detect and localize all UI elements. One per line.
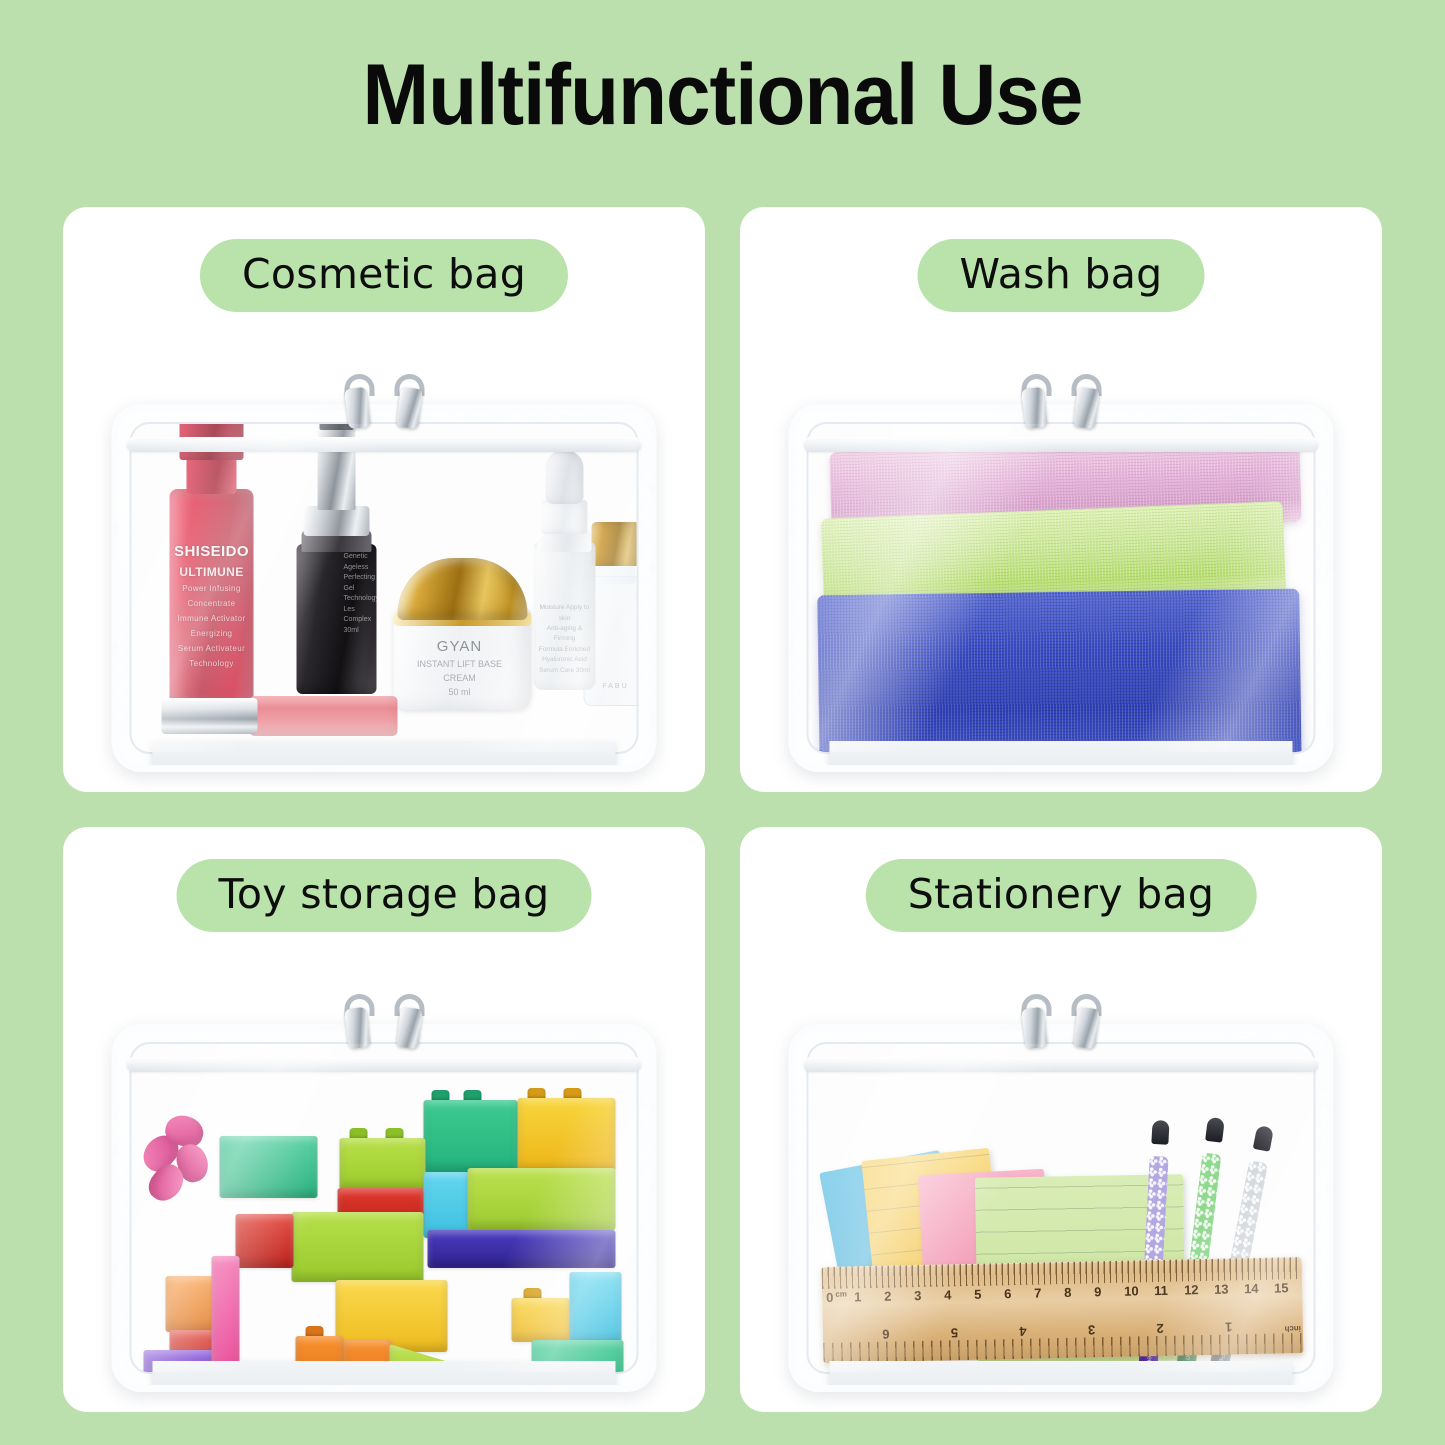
zipper-pull-group xyxy=(324,994,444,1046)
zipper-pull-group xyxy=(1001,994,1121,1046)
red-serum-desc-6: Technology xyxy=(189,659,233,669)
red-serum-desc-5: Serum Activateur xyxy=(178,644,245,654)
block-green xyxy=(424,1100,518,1172)
pouch-interior: FABU Moisture Apply to skin Anti-aging &… xyxy=(130,422,639,754)
ruler-cm-13: 13 xyxy=(1212,1281,1242,1297)
page-title: Multifunctional Use xyxy=(51,52,1395,138)
ruler-inch-unit: inch xyxy=(1234,1318,1303,1334)
zipper-pull-left-icon xyxy=(344,387,371,429)
stationery-contents: Crystal Stylus Pen Crystal Stylus Pen xyxy=(809,1044,1314,1372)
ruler-inch-2: 2 xyxy=(1097,1321,1166,1337)
dropper-text-3: Formula Enriched xyxy=(538,645,592,655)
block-yellow xyxy=(518,1098,616,1172)
block-lime xyxy=(468,1168,616,1230)
block-orange xyxy=(166,1276,218,1332)
stationery-bag-image: Crystal Stylus Pen Crystal Stylus Pen xyxy=(789,994,1334,1394)
cream-jar-line-3: 50 ml xyxy=(400,686,520,700)
dropper-text-5: Serum Care 30ml xyxy=(538,666,592,676)
towel-blue xyxy=(817,589,1302,754)
red-serum-desc-1: Power Infusing xyxy=(182,584,241,594)
red-serum-line: ULTIMUNE xyxy=(179,565,243,579)
ruler-cm-11: 11 xyxy=(1152,1282,1182,1298)
red-serum-desc-3: Immune Activator xyxy=(177,614,245,624)
transparent-pouch xyxy=(789,404,1334,772)
dark-serum-text-5: Technology xyxy=(344,594,378,605)
pouch-base xyxy=(153,1361,616,1392)
block-yellow xyxy=(512,1298,570,1342)
block-red xyxy=(236,1214,294,1268)
panel-cosmetic-bag[interactable]: Cosmetic bag FABU xyxy=(63,207,705,792)
zipper-pull-right-icon xyxy=(396,1007,423,1049)
pink-lip-gloss-cap xyxy=(162,698,258,734)
dropper-bottle-label: Moisture Apply to skin Anti-aging & Firm… xyxy=(538,603,592,676)
toy-bag-image xyxy=(112,994,657,1394)
clear-bottle-gold-cap xyxy=(592,522,639,566)
ruler-inch-1: 1 xyxy=(1166,1319,1235,1335)
pen-stylus-tip-icon xyxy=(1151,1120,1169,1145)
ruler-cm-5: 5 xyxy=(972,1286,1002,1302)
panel-label-toy: Toy storage bag xyxy=(177,859,592,932)
transparent-pouch: Crystal Stylus Pen Crystal Stylus Pen xyxy=(789,1024,1334,1392)
pen-stylus-tip-icon xyxy=(1205,1117,1225,1143)
towel-stack xyxy=(809,424,1314,752)
dropper-text-4: Hyaluronic Acid xyxy=(538,655,592,665)
zipper-pull-right-icon xyxy=(1073,1007,1100,1049)
red-serum-desc-4: Energizing xyxy=(191,629,233,639)
ruler-cm-15: 15 xyxy=(1272,1280,1302,1296)
wash-bag-image xyxy=(789,374,1334,774)
panel-grid: Cosmetic bag FABU xyxy=(63,207,1382,1412)
zipper-pull-group xyxy=(1001,374,1121,426)
zipper-track xyxy=(804,437,1319,452)
dark-serum-text-7: 30ml xyxy=(344,626,378,637)
ruler-cm-8: 8 xyxy=(1062,1284,1092,1300)
pouch-base xyxy=(830,1361,1293,1392)
red-serum-label: SHISEIDO ULTIMUNE Power Infusing Concent… xyxy=(172,536,252,674)
cream-jar-line-2: CREAM xyxy=(400,672,520,686)
ruler-cm-14: 14 xyxy=(1242,1281,1272,1297)
dropper-bulb-icon xyxy=(546,450,584,504)
cream-jar-line-1: INSTANT LIFT BASE xyxy=(400,658,520,672)
pouch-interior xyxy=(130,1042,639,1374)
cream-jar-brand: GYAN xyxy=(400,635,520,658)
panel-stationery-bag[interactable]: Stationery bag xyxy=(740,827,1382,1412)
ruler-inch-4: 4 xyxy=(960,1324,1029,1340)
ruler-cm-3: 3 xyxy=(912,1288,942,1304)
zipper-track xyxy=(804,1057,1319,1072)
cream-jar-gold-lid xyxy=(398,558,528,620)
block-pink xyxy=(212,1256,240,1374)
building-block-pile xyxy=(132,1044,637,1372)
block-lime xyxy=(292,1212,424,1282)
pink-lip-gloss-tube xyxy=(250,696,398,736)
red-serum-neck xyxy=(187,454,237,494)
transparent-pouch: FABU Moisture Apply to skin Anti-aging &… xyxy=(112,404,657,772)
dark-serum-text-3: Perfecting xyxy=(344,573,378,584)
ruler-cm-7: 7 xyxy=(1032,1285,1062,1301)
pouch-base xyxy=(153,741,616,772)
dark-serum-label: Genetic Ageless Perfecting Gel Technolog… xyxy=(344,552,378,652)
dark-serum-text-2: Ageless xyxy=(344,563,378,574)
cosmetic-bag-image: FABU Moisture Apply to skin Anti-aging &… xyxy=(112,374,657,774)
block-purple xyxy=(428,1230,616,1268)
ruler-cm-10: 10 xyxy=(1122,1283,1152,1299)
zipper-track xyxy=(127,1057,642,1072)
dropper-text-2: Anti-aging & Firming xyxy=(538,624,592,645)
pen-crystal-chamber xyxy=(1188,1152,1221,1273)
red-serum-desc-2: Concentrate xyxy=(188,599,236,609)
transparent-pouch xyxy=(112,1024,657,1392)
ruler-cm-2: 2 xyxy=(882,1288,912,1304)
block-cyan xyxy=(424,1172,470,1238)
red-serum-brand: SHISEIDO xyxy=(174,543,249,560)
zipper-pull-left-icon xyxy=(1021,1007,1048,1049)
wooden-ruler: 0cm 1 2 3 4 5 6 7 8 9 10 xyxy=(822,1257,1304,1363)
cosmetic-contents: FABU Moisture Apply to skin Anti-aging &… xyxy=(132,424,637,752)
panel-label-cosmetic: Cosmetic bag xyxy=(200,239,568,312)
dark-serum-text-6: Les Complex xyxy=(344,605,378,626)
dark-serum-text-4: Gel xyxy=(344,584,378,595)
zipper-track xyxy=(127,437,642,452)
pouch-interior xyxy=(807,422,1316,754)
panel-toy-storage-bag[interactable]: Toy storage bag xyxy=(63,827,705,1412)
panel-wash-bag[interactable]: Wash bag xyxy=(740,207,1382,792)
dark-serum-chrome-ring xyxy=(304,506,370,536)
dark-serum-text-1: Genetic xyxy=(344,552,378,563)
block-green xyxy=(220,1136,318,1198)
cream-jar-label: GYAN INSTANT LIFT BASE CREAM 50 ml xyxy=(400,635,520,700)
zipper-pull-right-icon xyxy=(396,387,423,429)
block-cyan xyxy=(570,1272,622,1344)
pouch-base xyxy=(830,741,1293,772)
pouch-interior: Crystal Stylus Pen Crystal Stylus Pen xyxy=(807,1042,1316,1374)
pen-stylus-tip-icon xyxy=(1253,1125,1274,1152)
ruler-cm-6: 6 xyxy=(1002,1286,1032,1302)
dropper-text-1: Moisture Apply to skin xyxy=(538,603,592,624)
ruler-cm-1: 1 xyxy=(852,1289,882,1305)
panel-label-wash: Wash bag xyxy=(918,239,1205,312)
zipper-pull-left-icon xyxy=(344,1007,371,1049)
pink-flower-toy xyxy=(140,1116,214,1202)
ruler-inch-5: 5 xyxy=(891,1325,960,1341)
ruler-cm-4: 4 xyxy=(942,1287,972,1303)
dropper-collar xyxy=(542,500,588,534)
zipper-pull-group xyxy=(324,374,444,426)
zipper-pull-left-icon xyxy=(1021,387,1048,429)
block-lime xyxy=(340,1138,426,1190)
ruler-inch-3: 3 xyxy=(1028,1322,1097,1338)
ruler-cm-9: 9 xyxy=(1092,1284,1122,1300)
panel-label-stationery: Stationery bag xyxy=(866,859,1257,932)
ruler-cm-12: 12 xyxy=(1182,1282,1212,1298)
zipper-pull-right-icon xyxy=(1073,387,1100,429)
ruler-cm-0: 0cm xyxy=(822,1289,852,1305)
ruler-inch-6: 6 xyxy=(823,1327,892,1343)
